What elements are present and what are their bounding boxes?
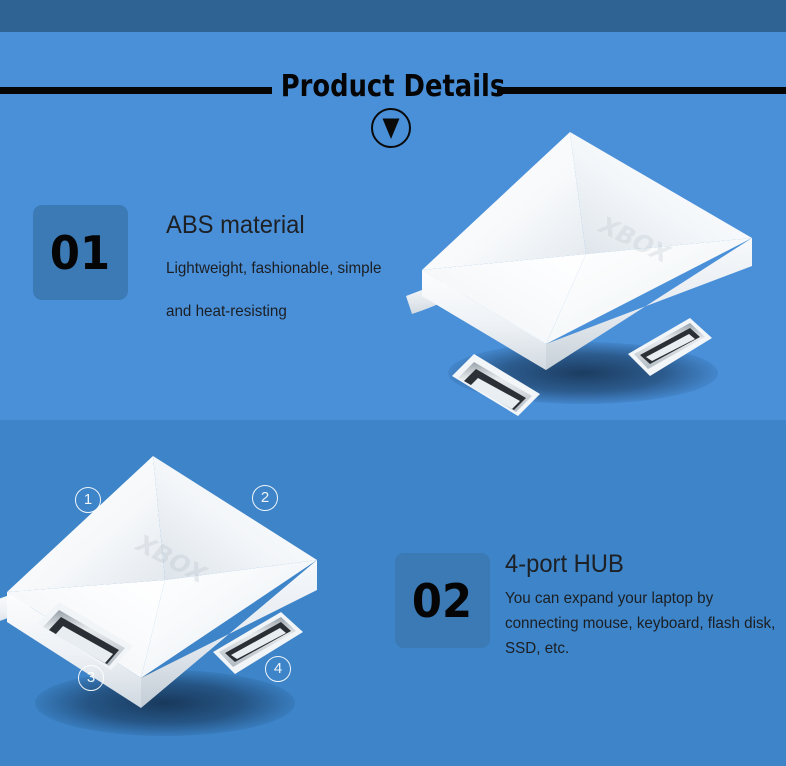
feature-block-02: 02 4-port HUB You can expand your laptop…	[395, 553, 785, 673]
usb-hub-illustration: XBOX	[0, 440, 365, 750]
feature-body-line: Lightweight, fashionable, simple	[166, 247, 381, 290]
usb-hub-photo-bottom: XBOX 1 2 3 4	[0, 440, 365, 750]
chevron-down-icon	[381, 117, 401, 141]
feature-body: Lightweight, fashionable, simple and hea…	[166, 247, 381, 333]
usb-hub-illustration: XBOX	[400, 120, 780, 420]
feature-number-label: 02	[412, 578, 472, 624]
feature-number-badge: 02	[395, 553, 490, 648]
feature-heading: ABS material	[166, 211, 305, 240]
port-callout-4: 4	[265, 656, 291, 682]
feature-number-label: 01	[50, 230, 110, 276]
section-header: Product Details	[0, 32, 786, 120]
feature-body-line: You can expand your laptop by	[505, 586, 775, 611]
feature-block-01: 01 ABS material Lightweight, fashionable…	[33, 205, 433, 325]
port-callout-3: 3	[78, 665, 104, 691]
feature-body: You can expand your laptop by connecting…	[505, 586, 775, 661]
top-color-band	[0, 0, 786, 32]
feature-body-line: connecting mouse, keyboard, flash disk,	[505, 611, 775, 636]
feature-body-line: and heat-resisting	[166, 290, 381, 333]
usb-hub-photo-top: XBOX	[400, 120, 780, 420]
page-title: Product Details	[55, 69, 731, 105]
port-callout-2: 2	[252, 485, 278, 511]
product-details-page: Product Details	[0, 0, 786, 766]
feature-body-line: SSD, etc.	[505, 636, 775, 661]
feature-heading: 4-port HUB	[505, 550, 624, 579]
port-callout-1: 1	[75, 487, 101, 513]
feature-number-badge: 01	[33, 205, 128, 300]
